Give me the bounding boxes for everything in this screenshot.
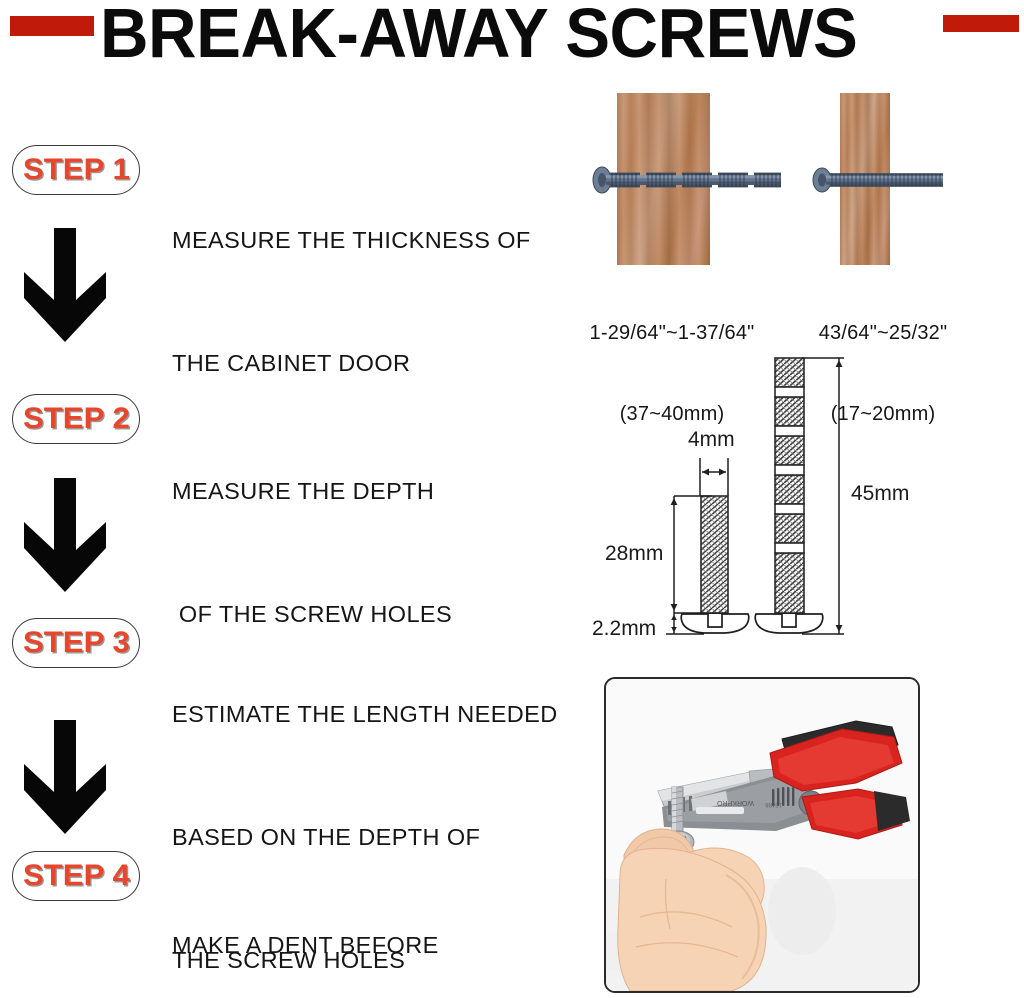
screw-length-28-label: 28mm bbox=[605, 542, 663, 566]
step-1-line-2: THE CABINET DOOR bbox=[172, 343, 531, 384]
thick-door-caption-inches: 1-29/64"~1-37/64" bbox=[540, 320, 804, 347]
step-badge-2-label: STEP 2 bbox=[23, 402, 130, 436]
screw-through-thin-door bbox=[808, 162, 958, 198]
header: BREAK-AWAY SCREWS bbox=[0, 0, 1024, 72]
step-badge-4: STEP 4 bbox=[12, 851, 140, 901]
pliers-cutting-screw-photo: WORKPRO 12488 bbox=[604, 677, 920, 993]
step-badge-3-label: STEP 3 bbox=[23, 626, 130, 660]
step-badge-3: STEP 3 bbox=[12, 618, 140, 668]
svg-text:WORKPRO: WORKPRO bbox=[717, 799, 755, 806]
screw-length-45-label: 45mm bbox=[851, 482, 909, 506]
step-3-line-1: ESTIMATE THE LENGTH NEEDED bbox=[172, 694, 558, 735]
screw-through-thick-door bbox=[588, 160, 798, 200]
step-4-text: MAKE A DENT BEFORE CUTE THE SCREW bbox=[172, 843, 439, 998]
step-badge-4-label: STEP 4 bbox=[23, 859, 130, 893]
step-badge-2: STEP 2 bbox=[12, 394, 140, 444]
left-red-dash bbox=[10, 16, 94, 36]
step-2-line-1: MEASURE THE DEPTH bbox=[172, 471, 452, 512]
arrow-step1-to-step2 bbox=[22, 228, 108, 346]
page-title: BREAK-AWAY SCREWS bbox=[100, 0, 897, 70]
step-badge-1: STEP 1 bbox=[12, 145, 140, 195]
screw-head-thickness-label: 2.2mm bbox=[592, 617, 656, 641]
pliers-photo-art: WORKPRO 12488 bbox=[606, 679, 918, 991]
step-badge-1-label: STEP 1 bbox=[23, 153, 130, 187]
right-red-dash bbox=[943, 15, 1019, 32]
step-4-line-1: MAKE A DENT BEFORE bbox=[172, 925, 439, 966]
thin-door-caption-inches: 43/64"~25/32" bbox=[783, 320, 983, 347]
infographic-page: BREAK-AWAY SCREWS STEP 1 MEASURE THE THI… bbox=[0, 0, 1024, 998]
arrow-step2-to-step3 bbox=[22, 478, 108, 596]
arrow-step3-to-step4 bbox=[22, 720, 108, 838]
step-1-line-1: MEASURE THE THICKNESS OF bbox=[172, 220, 531, 261]
screw-width-label: 4mm bbox=[688, 428, 735, 452]
